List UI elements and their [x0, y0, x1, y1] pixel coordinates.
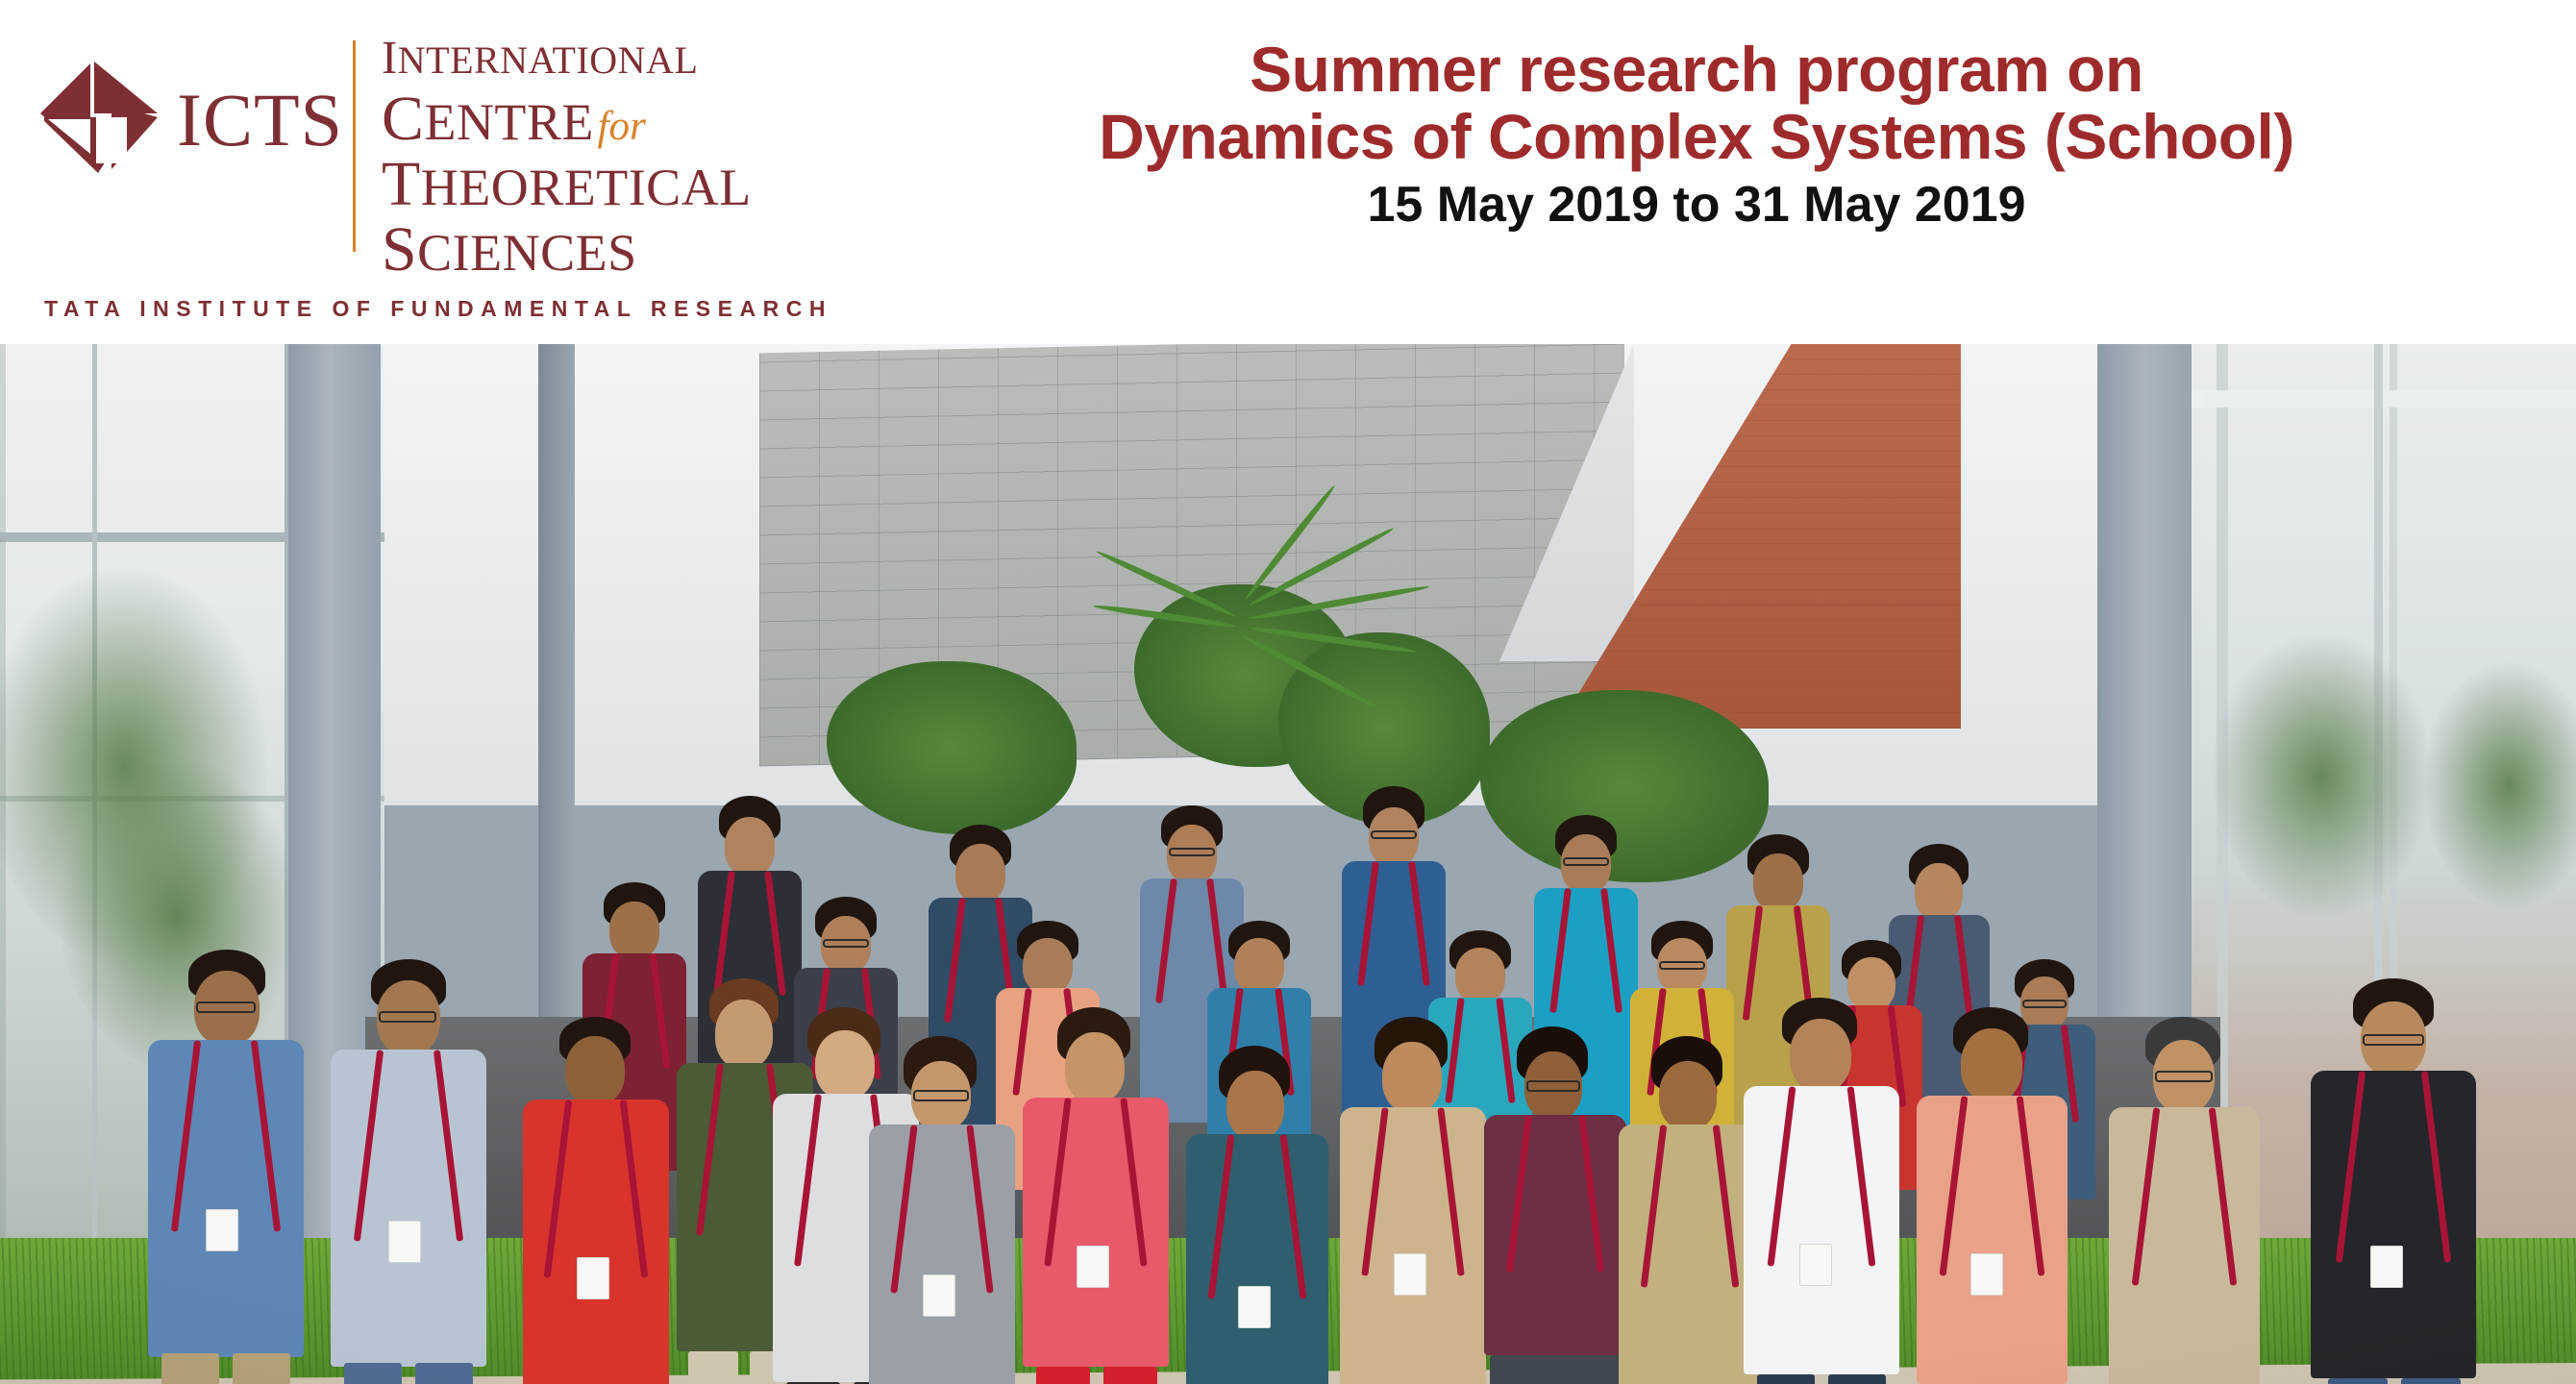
shrub	[827, 661, 1077, 834]
programme-title-block: Summer research program on Dynamics of C…	[827, 37, 2566, 233]
icts-logo-block: ICTS INTERNATIONAL CENTRE for THEORETICA…	[21, 19, 838, 240]
wordmark-line-theoretical: THEORETICAL	[382, 152, 843, 216]
participant	[1336, 1017, 1490, 1384]
logo-divider-rule	[353, 40, 356, 252]
group-photograph	[0, 344, 2576, 1384]
window-mullion	[2203, 392, 2576, 408]
icts-acronym: ICTS	[177, 83, 343, 158]
wordmark-line-international: INTERNATIONAL	[382, 35, 843, 83]
participant	[519, 1017, 673, 1384]
participant	[1913, 1007, 2071, 1384]
participant	[1740, 998, 1903, 1384]
name-badge	[2370, 1246, 2403, 1288]
programme-title-line-1: Summer research program on	[827, 37, 2566, 104]
icts-wordmark: INTERNATIONAL CENTRE for THEORETICAL SCI…	[382, 35, 843, 282]
tifr-parent-institute-label: TATA INSTITUTE OF FUNDAMENTAL RESEARCH	[44, 296, 832, 322]
participant	[144, 950, 308, 1384]
name-badge	[1394, 1253, 1426, 1296]
poster-root: ICTS INTERNATIONAL CENTRE for THEORETICA…	[0, 0, 2576, 1384]
participant	[1019, 1007, 1173, 1384]
participant	[865, 1036, 1019, 1384]
name-badge	[388, 1221, 421, 1263]
participant	[327, 959, 490, 1384]
participant	[1480, 1026, 1629, 1384]
name-badge	[1970, 1253, 2003, 1296]
name-badge	[577, 1257, 609, 1299]
wordmark-line-centre-for: CENTRE for	[382, 86, 843, 151]
participant	[1182, 1046, 1331, 1384]
participant	[2307, 978, 2480, 1384]
icts-diamond-logo-icon	[31, 50, 165, 185]
header-banner: ICTS INTERNATIONAL CENTRE for THEORETICA…	[0, 0, 2576, 344]
programme-dates: 15 May 2019 to 31 May 2019	[827, 177, 2566, 233]
name-badge	[1077, 1246, 1109, 1288]
window-mullion	[0, 532, 288, 540]
facade-pillar	[538, 344, 575, 1017]
participant	[2105, 1017, 2264, 1384]
name-badge	[1799, 1244, 1832, 1286]
name-badge	[923, 1274, 955, 1317]
programme-title-line-2: Dynamics of Complex Systems (School)	[827, 104, 2566, 171]
name-badge	[1238, 1286, 1271, 1328]
wordmark-line-sciences: SCIENCES	[382, 217, 843, 282]
name-badge	[206, 1209, 238, 1251]
